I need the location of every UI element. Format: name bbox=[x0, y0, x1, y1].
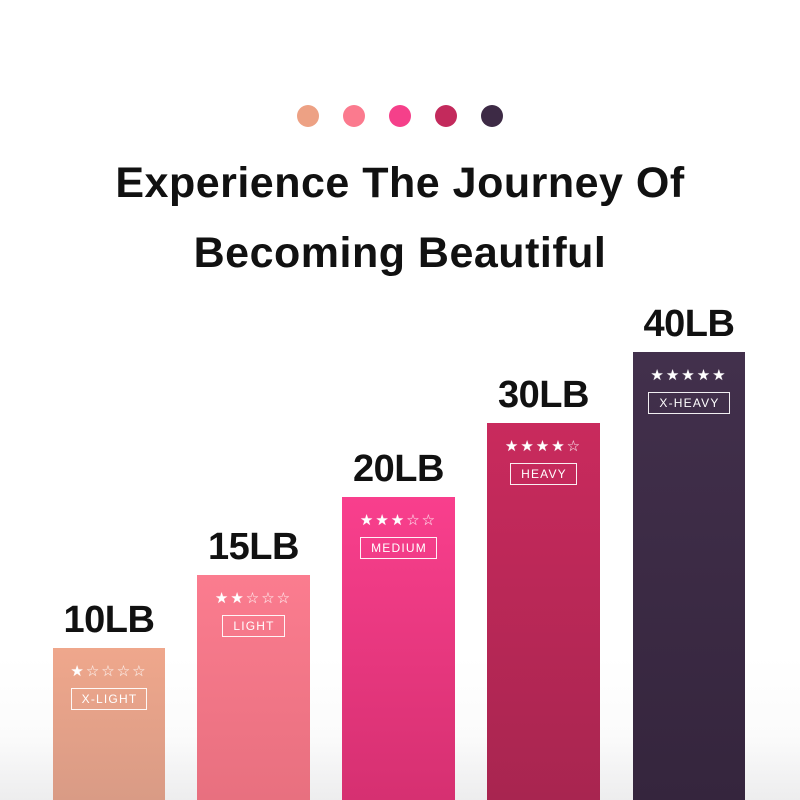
bar-value-label: 20LB bbox=[353, 448, 444, 491]
resistance-level-badge: LIGHT bbox=[222, 615, 284, 637]
bar-value-label: 40LB bbox=[644, 303, 735, 346]
star-rating-icon: ★☆☆☆☆ bbox=[70, 664, 147, 679]
bar: ★★★★☆HEAVY bbox=[487, 423, 600, 800]
bar: ★☆☆☆☆X-LIGHT bbox=[53, 648, 165, 800]
resistance-band-bar-chart: 10LB★☆☆☆☆X-LIGHT15LB★★☆☆☆LIGHT20LB★★★☆☆M… bbox=[0, 0, 800, 800]
bar-group[interactable]: 20LB★★★☆☆MEDIUM bbox=[342, 497, 455, 800]
bar-group[interactable]: 30LB★★★★☆HEAVY bbox=[487, 423, 600, 800]
bar-value-label: 10LB bbox=[64, 599, 155, 642]
star-rating-icon: ★★★☆☆ bbox=[360, 513, 437, 528]
resistance-level-badge: X-HEAVY bbox=[648, 392, 729, 414]
bar-value-label: 15LB bbox=[208, 526, 299, 569]
bar: ★★☆☆☆LIGHT bbox=[197, 575, 310, 800]
resistance-level-badge: MEDIUM bbox=[360, 537, 437, 559]
bar: ★★★☆☆MEDIUM bbox=[342, 497, 455, 800]
star-rating-icon: ★★★★★ bbox=[650, 368, 727, 383]
resistance-level-badge: HEAVY bbox=[510, 463, 577, 485]
bar-group[interactable]: 40LB★★★★★X-HEAVY bbox=[633, 352, 745, 800]
bar-group[interactable]: 15LB★★☆☆☆LIGHT bbox=[197, 575, 310, 800]
bar: ★★★★★X-HEAVY bbox=[633, 352, 745, 800]
star-rating-icon: ★★☆☆☆ bbox=[215, 591, 292, 606]
bar-value-label: 30LB bbox=[498, 374, 589, 417]
resistance-level-badge: X-LIGHT bbox=[71, 688, 148, 710]
star-rating-icon: ★★★★☆ bbox=[505, 439, 582, 454]
bar-group[interactable]: 10LB★☆☆☆☆X-LIGHT bbox=[53, 648, 165, 800]
product-infographic: Experience The Journey Of Becoming Beaut… bbox=[0, 0, 800, 800]
